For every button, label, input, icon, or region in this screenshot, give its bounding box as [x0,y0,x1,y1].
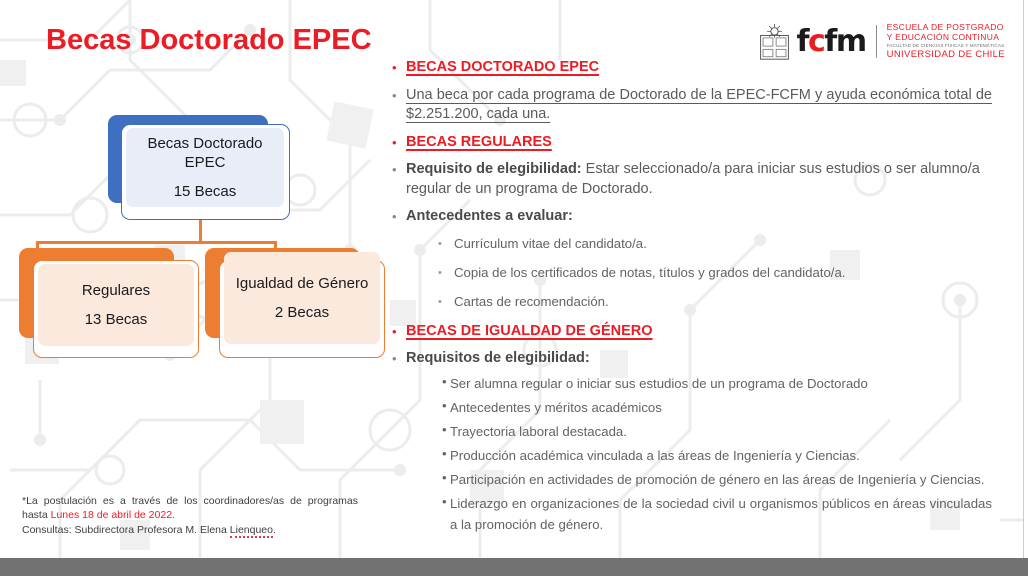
node-count: 15 Becas [174,182,237,201]
node-count: 13 Becas [85,310,148,329]
bullet-content: • BECAS DOCTORADO EPEC • Una beca por ca… [392,58,992,538]
bullet-marker: • [442,397,450,415]
list-item-text: Requisitos de elegibilidad: [406,349,992,369]
list-item-text: Antecedentes a evaluar: [406,207,992,227]
list-item-text: Trayectoria laboral destacada. [450,421,992,442]
flow-node-regulares[interactable]: Regulares 13 Becas [19,248,199,358]
list-item[interactable]: • BECAS DOCTORADO EPEC [392,58,992,78]
list-item[interactable]: • BECAS REGULARES [392,133,992,153]
list-item[interactable]: • Participación en actividades de promoc… [442,469,992,490]
node-label: Igualdad de Género [236,274,369,293]
university-crest-icon [758,24,791,60]
list-item[interactable]: • Producción académica vinculada a las á… [442,445,992,466]
list-item[interactable]: • Currículum vitae del candidato/a. [438,235,992,254]
list-item[interactable]: • Requisito de elegibilidad: Estar selec… [392,160,992,199]
list-item-text: BECAS REGULARES [406,133,992,153]
footnote-contact-name: Lienqueo [230,524,273,538]
list-item-text: Requisito de elegibilidad: Estar selecci… [406,160,992,199]
list-item[interactable]: • Cartas de recomendación. [438,293,992,312]
list-item-text: Ser alumna regular o iniciar sus estudio… [450,373,992,394]
node-inner: Regulares 13 Becas [38,264,194,346]
bullet-marker: • [392,58,406,77]
list-item-bold: Requisitos de elegibilidad: [406,350,590,366]
logo-divider [876,25,877,58]
list-item-text: Antecedentes y méritos académicos [450,397,992,418]
list-item[interactable]: • Una beca por cada programa de Doctorad… [392,86,992,125]
node-label: Becas Doctorado EPEC [126,134,284,172]
list-item-text: BECAS DOCTORADO EPEC [406,58,992,78]
bullet-marker: • [392,86,406,105]
list-item[interactable]: • Trayectoria laboral destacada. [442,421,992,442]
footnote-contact-suffix: . [273,524,276,536]
list-item-text: Una beca por cada programa de Doctorado … [406,86,992,125]
list-item-text: Cartas de recomendación. [454,293,992,311]
list-item[interactable]: • Copia de los certificados de notas, tí… [438,264,992,283]
fcfm-logo: fcfm ESCUELA DE POSTGRADO Y EDUCACIÓN CO… [758,22,1005,61]
list-item-bold: Antecedentes a evaluar: [406,208,573,224]
bullet-marker: • [438,293,454,312]
bullet-marker: • [442,469,450,487]
slide-canvas: Becas Doctorado EPEC fcfm ESCUELA DE POS… [0,0,1024,558]
node-inner: Becas Doctorado EPEC 15 Becas [126,128,284,207]
bullet-marker: • [442,421,450,439]
bullet-marker: • [438,264,454,283]
list-item[interactable]: • Requisitos de elegibilidad: [392,349,992,369]
node-count: 2 Becas [275,303,329,322]
bullet-marker: • [442,373,450,391]
logo-line-1: ESCUELA DE POSTGRADO [887,22,1005,32]
list-item[interactable]: • BECAS DE IGUALDAD DE GÉNERO [392,322,992,342]
footnote-deadline: Lunes 18 de abril de 2022. [51,509,175,521]
bullet-marker: • [438,235,454,254]
list-item-text: Copia de los certificados de notas, títu… [454,264,992,282]
list-item[interactable]: • Liderazgo en organizaciones de la soci… [442,493,992,535]
flow-node-igualdad-genero[interactable]: Igualdad de Género 2 Becas [205,248,385,358]
logo-line-3: FACULTAD DE CIENCIAS FÍSICAS Y MATEMÁTIC… [887,42,1005,49]
fcfm-wordmark: fcfm [796,27,865,57]
list-item[interactable]: • Ser alumna regular o iniciar sus estud… [442,373,992,394]
list-item-text: Participación en actividades de promoció… [450,469,992,490]
page-title: Becas Doctorado EPEC [46,24,372,57]
list-item-text: Currículum vitae del candidato/a. [454,235,992,253]
bullet-marker: • [442,493,450,511]
bullet-marker: • [392,322,406,341]
connector-horizontal [36,241,276,244]
bottom-bar [0,558,1028,576]
footnote-contact-prefix: Consultas: Subdirectora Profesora M. Ele… [22,524,230,536]
logo-line-2: Y EDUCACIÓN CONTINUA [887,32,1005,42]
list-item-text: BECAS DE IGUALDAD DE GÉNERO [406,322,992,342]
bullet-marker: • [392,207,406,226]
bullet-marker: • [392,349,406,368]
bullet-marker: • [392,133,406,152]
list-item[interactable]: • Antecedentes y méritos académicos [442,397,992,418]
list-item-text: Producción académica vinculada a las áre… [450,445,992,466]
list-item-text: Liderazgo en organizaciones de la socied… [450,493,992,535]
footnote: *La postulación es a través de los coord… [22,494,358,537]
flow-node-root[interactable]: Becas Doctorado EPEC 15 Becas [108,115,290,220]
bullet-marker: • [392,160,406,179]
list-item[interactable]: • Antecedentes a evaluar: [392,207,992,227]
list-item-bold: Requisito de elegibilidad: [406,161,582,177]
bullet-marker: • [442,445,450,463]
node-inner: Igualdad de Género 2 Becas [224,252,380,344]
node-label: Regulares [82,281,150,300]
